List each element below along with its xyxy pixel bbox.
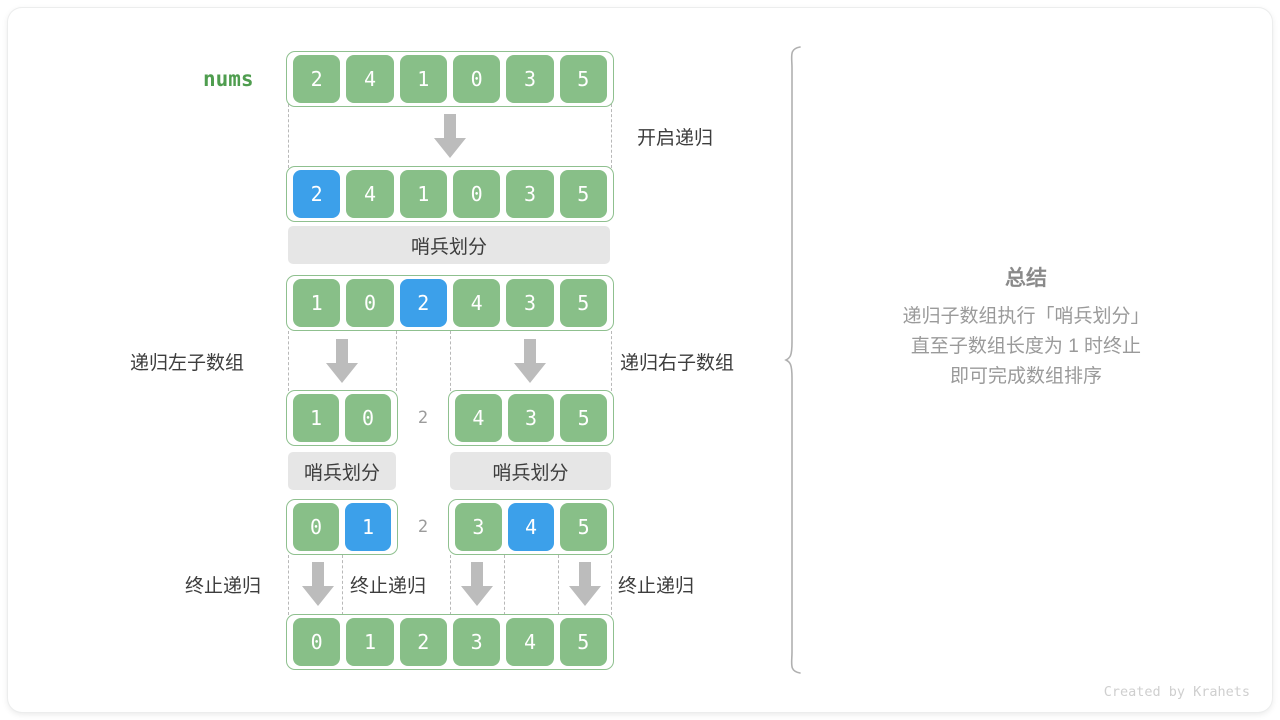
- label-recurse-right: 递归右子数组: [620, 348, 734, 375]
- guide-line-l1: [396, 331, 397, 391]
- label-start-recursion: 开启递归: [637, 123, 713, 150]
- cell: 3: [508, 394, 555, 442]
- cell: 5: [560, 279, 607, 327]
- cell: 1: [400, 170, 447, 218]
- arrow-down-stop-recursion-3: [568, 562, 602, 607]
- array-row-sub-right: 4 3 5: [448, 390, 614, 446]
- cell: 0: [293, 503, 339, 551]
- cell: 5: [560, 170, 607, 218]
- arrow-down-start-recursion: [433, 114, 467, 159]
- array-row-sub-left-partitioned: 0 1: [286, 499, 398, 555]
- arrow-down-stop-recursion-2: [460, 562, 494, 607]
- summary-line: 即可完成数组排序: [828, 362, 1224, 392]
- label-stop-recursion-1: 终止递归: [185, 571, 261, 598]
- cell: 4: [506, 618, 553, 666]
- label-recurse-left: 递归左子数组: [130, 348, 244, 375]
- summary-title: 总结: [828, 262, 1224, 292]
- pivot-value-row-sub-partitioned: 2: [396, 517, 450, 537]
- cell: 3: [506, 55, 553, 103]
- cell: 4: [346, 170, 393, 218]
- cell: 5: [560, 394, 607, 442]
- cell: 3: [455, 503, 502, 551]
- array-row-after-partition: 1 0 2 4 3 5: [286, 275, 614, 331]
- guide-line-left-edge: [288, 104, 289, 168]
- guide-line-b3: [504, 555, 505, 615]
- summary-line: 递归子数组执行「哨兵划分」: [828, 302, 1224, 332]
- cell: 3: [506, 279, 553, 327]
- cell: 2: [400, 618, 447, 666]
- cell: 1: [293, 279, 340, 327]
- guide-line-b1: [342, 555, 343, 615]
- summary-lines: 递归子数组执行「哨兵划分」 直至子数组长度为 1 时终止 即可完成数组排序: [828, 302, 1224, 392]
- summary-line: 直至子数组长度为 1 时终止: [828, 332, 1224, 362]
- guide-line-b4: [558, 555, 559, 615]
- cell: 4: [346, 55, 393, 103]
- guide-line-right-edge: [611, 104, 612, 168]
- cell: 5: [560, 618, 607, 666]
- guide-line-r1: [611, 331, 612, 391]
- label-stop-recursion-3: 终止递归: [618, 571, 694, 598]
- nums-label: nums: [203, 67, 254, 91]
- guide-line-r0: [450, 331, 451, 391]
- footer-credit: Created by Krahets: [1104, 684, 1250, 700]
- cell: 4: [453, 279, 500, 327]
- cell: 1: [400, 55, 447, 103]
- summary-block: 总结 递归子数组执行「哨兵划分」 直至子数组长度为 1 时终止 即可完成数组排序: [828, 262, 1224, 392]
- partition-bar-right: 哨兵划分: [450, 452, 611, 490]
- cell: 0: [453, 170, 500, 218]
- array-row-pivot-chosen: 2 4 1 0 3 5: [286, 166, 614, 222]
- arrow-down-recurse-left: [325, 339, 359, 384]
- guide-line-l0: [288, 331, 289, 391]
- cell: 4: [455, 394, 502, 442]
- cell: 3: [453, 618, 500, 666]
- partition-bar-full: 哨兵划分: [288, 226, 610, 264]
- arrow-down-recurse-right: [513, 339, 547, 384]
- guide-line-b0: [288, 555, 289, 615]
- array-row-sub-right-partitioned: 3 4 5: [448, 499, 614, 555]
- label-stop-recursion-2: 终止递归: [350, 571, 426, 598]
- cell: 0: [293, 618, 340, 666]
- cell: 5: [560, 55, 607, 103]
- cell: 2: [293, 55, 340, 103]
- pivot-value-row-subarrays: 2: [396, 408, 450, 428]
- guide-line-b5: [611, 555, 612, 615]
- cell: 0: [346, 279, 393, 327]
- cell: 0: [345, 394, 391, 442]
- cell: 0: [453, 55, 500, 103]
- arrow-down-stop-recursion-1: [301, 562, 335, 607]
- array-row-sub-left: 1 0: [286, 390, 398, 446]
- cell: 1: [346, 618, 393, 666]
- cell: 4: [508, 503, 555, 551]
- cell: 2: [293, 170, 340, 218]
- array-row-sorted: 0 1 2 3 4 5: [286, 614, 614, 670]
- cell: 3: [506, 170, 553, 218]
- cell: 5: [560, 503, 607, 551]
- cell: 1: [345, 503, 391, 551]
- quicksort-recursion-diagram: nums 2 4 1 0 3 5 开启递归 2 4 1 0 3 5 哨兵划分 1…: [0, 0, 1280, 720]
- cell: 1: [293, 394, 339, 442]
- partition-bar-left: 哨兵划分: [288, 452, 396, 490]
- array-row-initial: 2 4 1 0 3 5: [286, 51, 614, 107]
- guide-line-b2: [450, 555, 451, 615]
- summary-brace: [786, 46, 816, 674]
- cell: 2: [400, 279, 447, 327]
